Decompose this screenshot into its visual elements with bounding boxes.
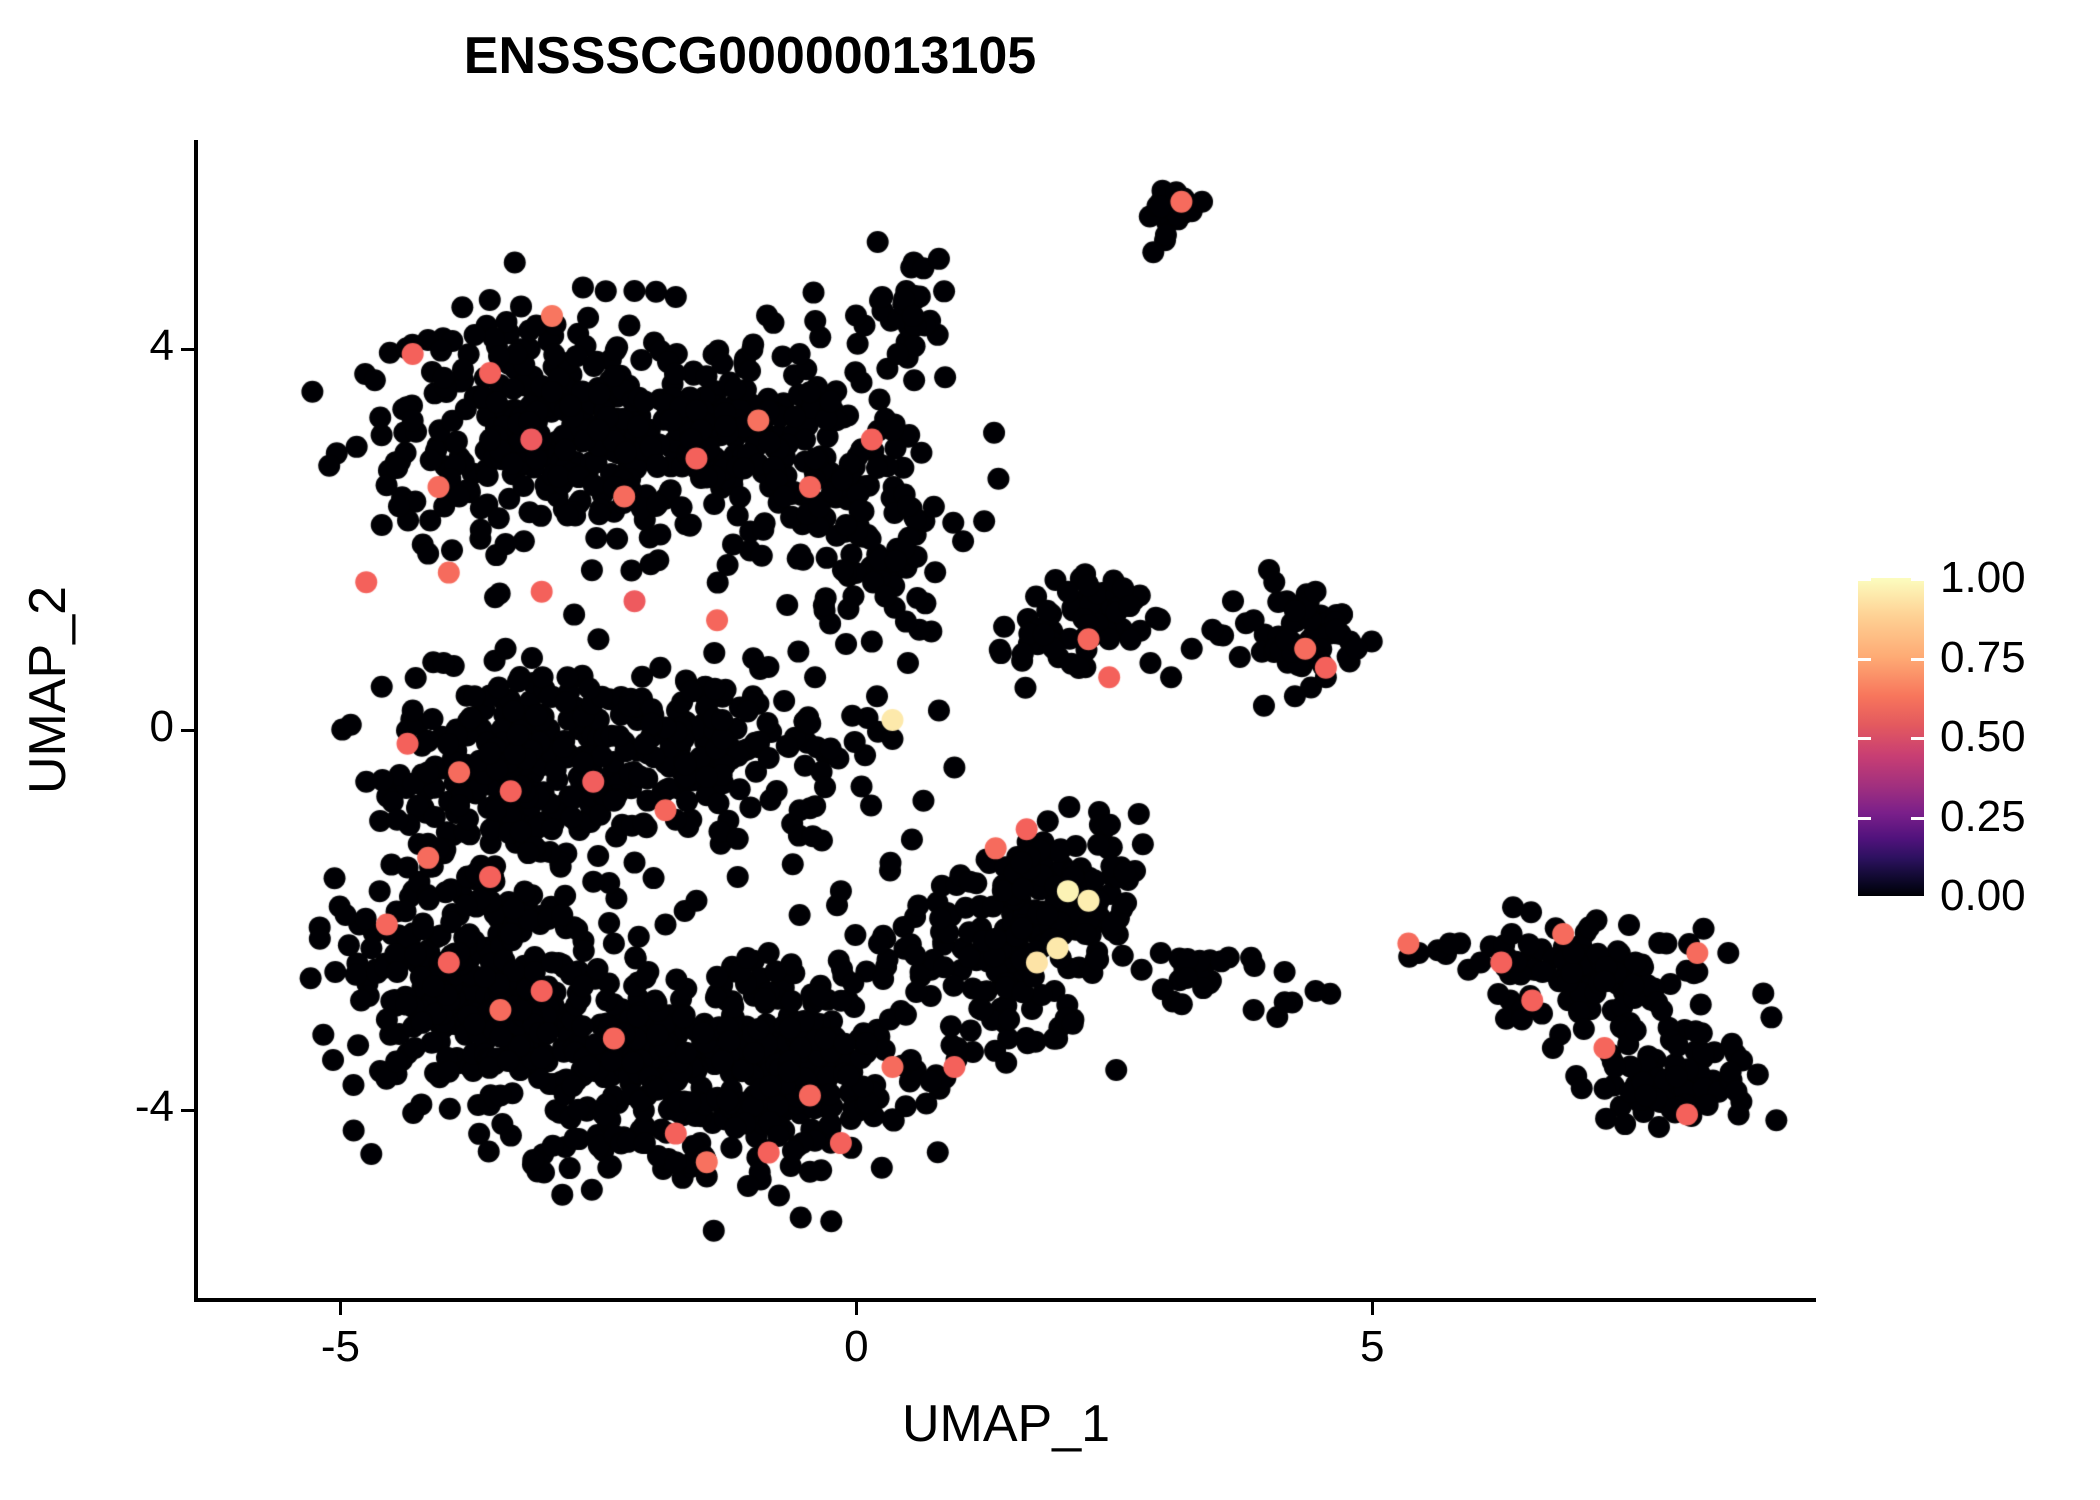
y-tick-label-4: 4	[54, 321, 174, 371]
colorbar-tick-1-00-right	[1911, 578, 1924, 581]
colorbar-label-0-75: 0.75	[1940, 633, 2026, 683]
colorbar-tick-0-50-right	[1911, 737, 1924, 740]
x-tick-label-neg5: -5	[260, 1322, 420, 1372]
page-title: ENSSSCG00000013105	[0, 26, 1500, 86]
x-tick-label-5: 5	[1292, 1322, 1452, 1372]
x-axis-line	[194, 1298, 1816, 1302]
colorbar-label-0-50: 0.50	[1940, 712, 2026, 762]
colorbar-tick-0-25-right	[1911, 817, 1924, 820]
colorbar-tick-0-00-left	[1858, 896, 1871, 899]
colorbar-tick-1-00-left	[1858, 578, 1871, 581]
colorbar-tick-0-75-left	[1858, 658, 1871, 661]
colorbar-label-0-00: 0.00	[1940, 871, 2026, 921]
y-tick-label-neg4: -4	[54, 1082, 174, 1132]
legend-colorbar: 1.00 0.75 0.50 0.25 0.00	[1858, 578, 2078, 908]
x-tick-mark-5	[1371, 1302, 1374, 1315]
umap-feature-plot: ENSSSCG00000013105 4 0 -4 -5 0 5 UMAP_2 …	[0, 0, 2100, 1500]
y-tick-mark-neg4	[181, 1109, 194, 1112]
scatter-plot-panel	[196, 140, 1816, 1300]
colorbar-tick-0-50-left	[1858, 737, 1871, 740]
colorbar-label-1-00: 1.00	[1940, 553, 2026, 603]
x-tick-label-0: 0	[776, 1322, 936, 1372]
x-tick-mark-0	[855, 1302, 858, 1315]
y-axis-line	[194, 140, 198, 1302]
y-axis-title: UMAP_2	[18, 380, 78, 1000]
colorbar-tick-0-00-right	[1911, 896, 1924, 899]
x-axis-title: UMAP_1	[196, 1394, 1816, 1454]
colorbar-label-0-25: 0.25	[1940, 792, 2026, 842]
colorbar-tick-0-75-right	[1911, 658, 1924, 661]
scatter-points-layer	[196, 140, 1816, 1300]
colorbar-tick-0-25-left	[1858, 817, 1871, 820]
y-tick-mark-4	[181, 348, 194, 351]
y-tick-mark-0	[181, 729, 194, 732]
x-tick-mark-neg5	[339, 1302, 342, 1315]
